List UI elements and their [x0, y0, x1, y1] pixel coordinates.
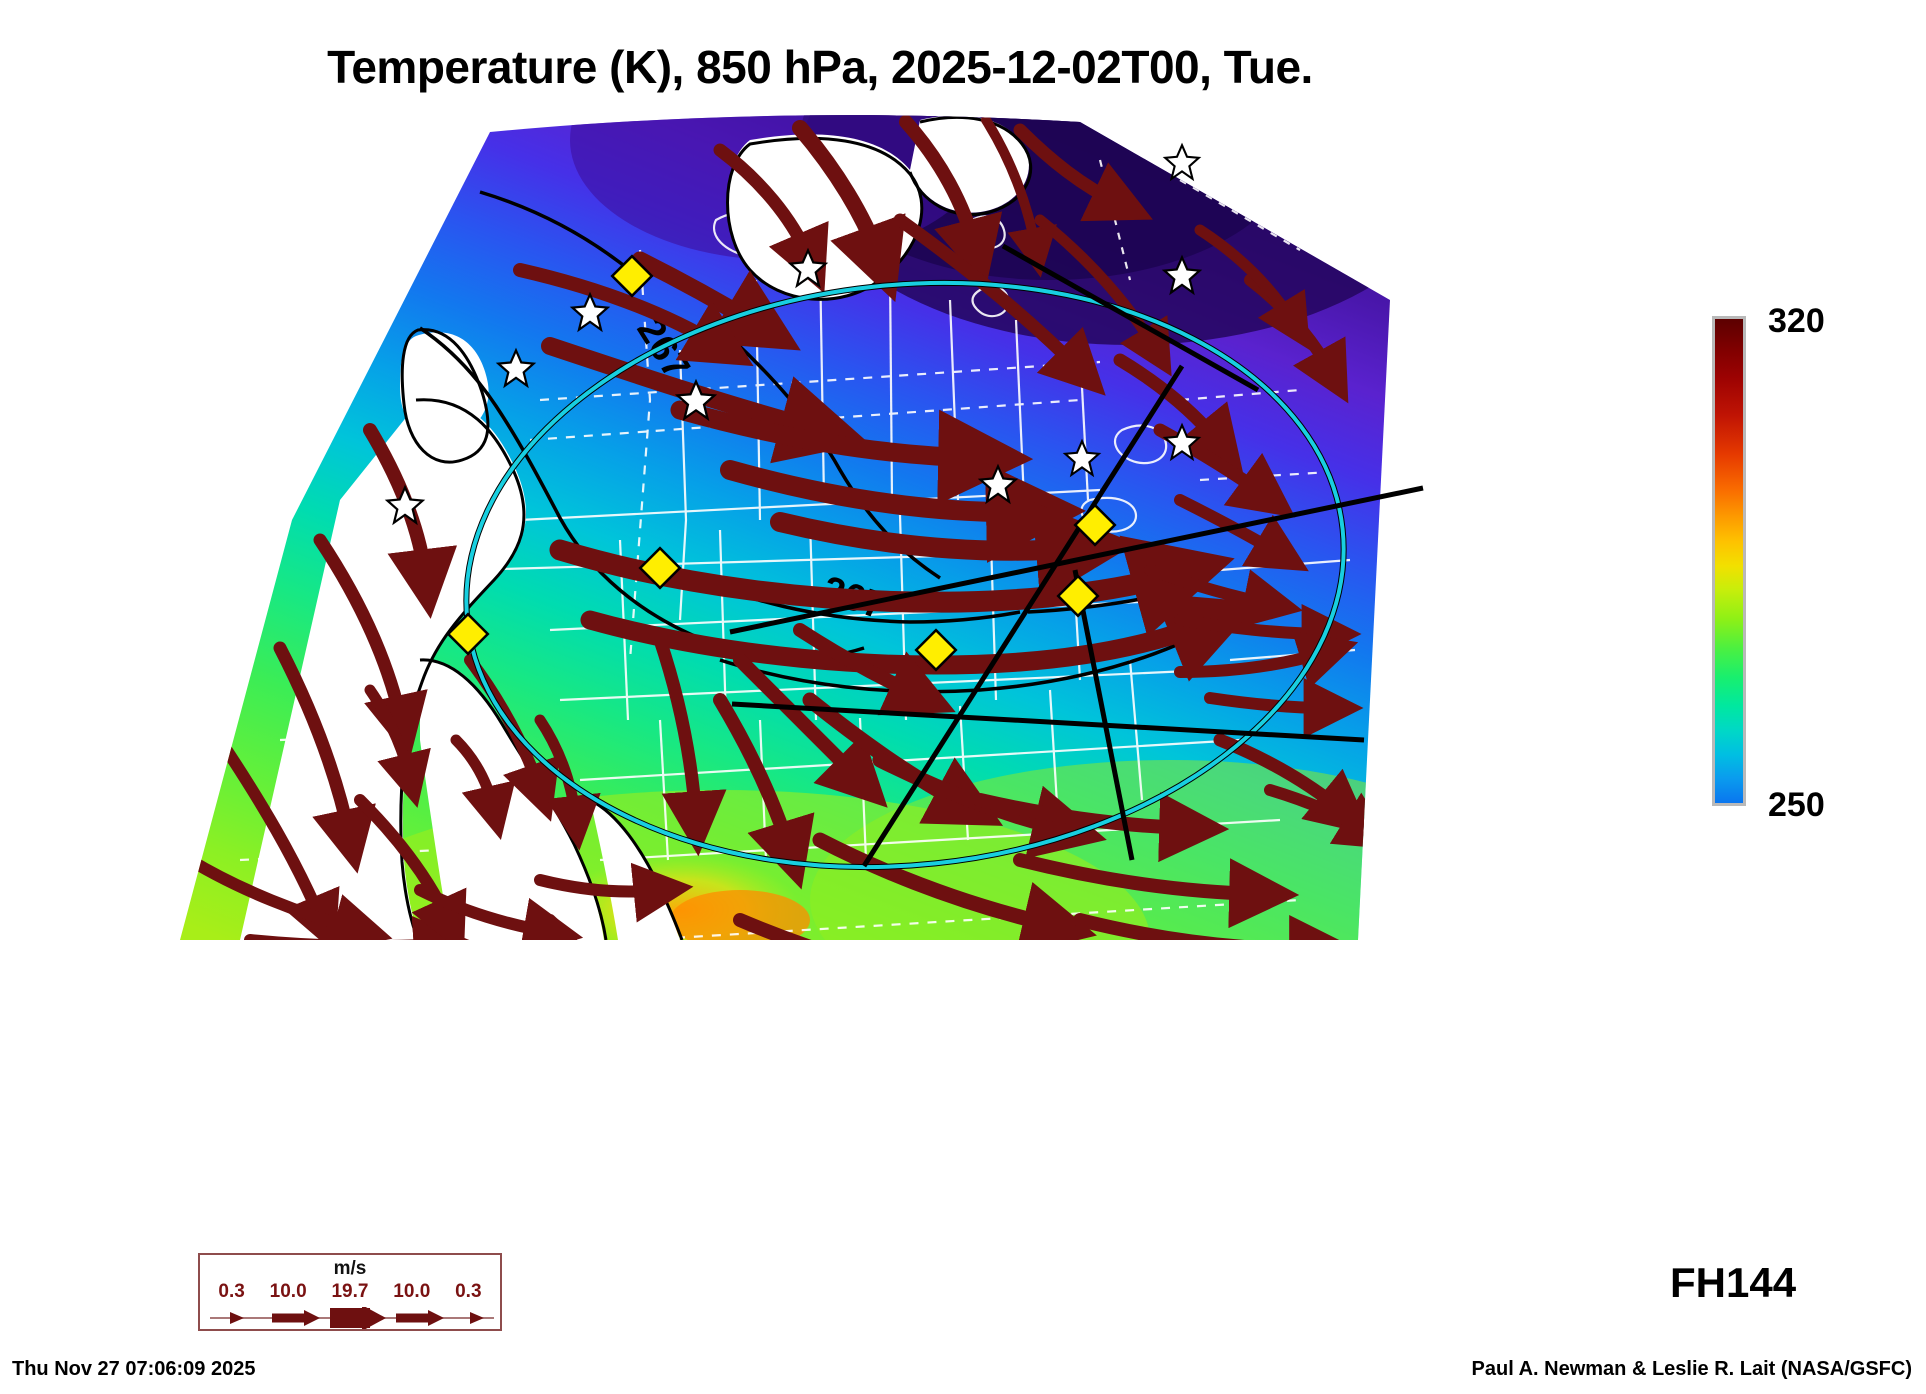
station-marker — [1165, 145, 1199, 179]
weather-map[interactable]: 267 267 — [120, 100, 1580, 1000]
forecast-hour-label: FH144 — [1670, 1259, 1796, 1307]
wind-legend-value: 19.7 — [331, 1281, 368, 1303]
wind-legend-value: 10.0 — [393, 1281, 430, 1303]
colorbar-gradient — [1712, 316, 1746, 806]
wind-legend-unit-label: m/s — [200, 1258, 500, 1280]
colorbar-min-label: 250 — [1768, 786, 1825, 825]
colorbar: 320 250 — [1712, 316, 1752, 806]
wind-legend-value: 0.3 — [455, 1281, 481, 1303]
footer-credit: Paul A. Newman & Leslie R. Lait (NASA/GS… — [1472, 1358, 1912, 1381]
wind-legend-value: 10.0 — [270, 1281, 307, 1303]
wind-speed-legend: m/s 0.3 10.0 19.7 10.0 0.3 — [198, 1253, 502, 1331]
page-title: Temperature (K), 850 hPa, 2025-12-02T00,… — [0, 40, 1640, 94]
wind-legend-arrow-scale — [210, 1307, 494, 1329]
wind-legend-values: 0.3 10.0 19.7 10.0 0.3 — [200, 1281, 500, 1303]
colorbar-max-label: 320 — [1768, 302, 1825, 341]
map-panel[interactable]: 267 267 — [120, 100, 1580, 1000]
footer-timestamp: Thu Nov 27 07:06:09 2025 — [12, 1358, 255, 1381]
wind-legend-value: 0.3 — [218, 1281, 244, 1303]
